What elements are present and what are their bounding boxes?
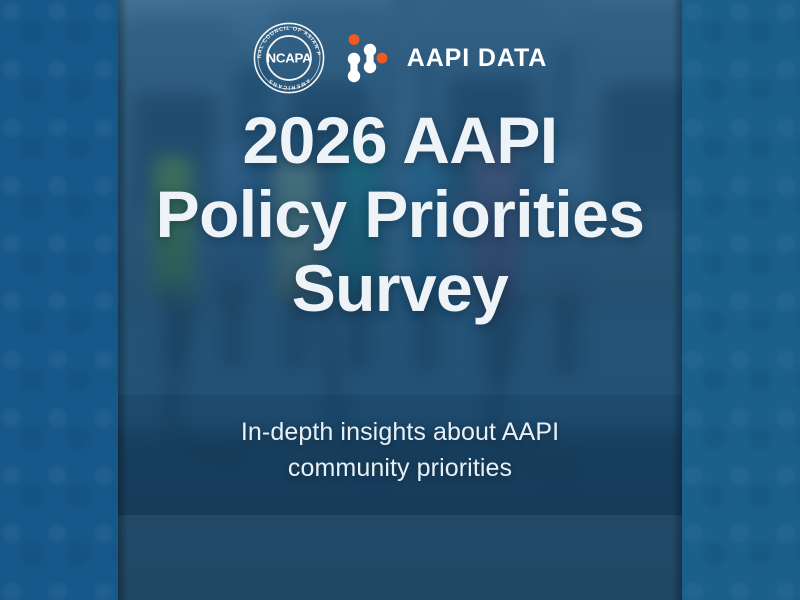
subtitle-line-1: In-depth insights about AAPI — [0, 415, 800, 451]
ncapa-seal-icon: NATIONAL COUNCIL OF ASIAN PACIFIC AMERIC… — [253, 22, 325, 94]
title-line-1: 2026 AAPI — [0, 104, 800, 178]
promo-card: NATIONAL COUNCIL OF ASIAN PACIFIC AMERIC… — [0, 0, 800, 600]
svg-text:NCAPA: NCAPA — [266, 51, 312, 66]
aapi-data-wordmark: AAPI DATA — [407, 44, 548, 73]
aapi-data-dumbbell-icon — [343, 33, 389, 83]
title-line-3: Survey — [0, 252, 800, 326]
logo-row: NATIONAL COUNCIL OF ASIAN PACIFIC AMERIC… — [0, 22, 800, 94]
subtitle-line-2: community priorities — [0, 451, 800, 487]
page-title: 2026 AAPI Policy Priorities Survey — [0, 104, 800, 326]
card-content: NATIONAL COUNCIL OF ASIAN PACIFIC AMERIC… — [0, 0, 800, 600]
page-subtitle: In-depth insights about AAPI community p… — [0, 415, 800, 486]
title-line-2: Policy Priorities — [0, 178, 800, 252]
